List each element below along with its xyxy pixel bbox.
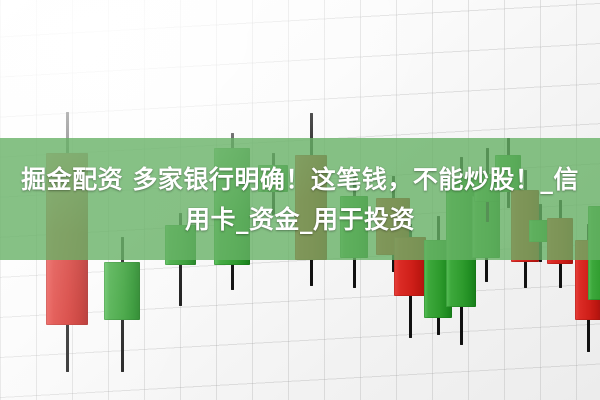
candle-body-down — [394, 237, 426, 296]
candle-body-up — [104, 262, 140, 320]
screenshot-canvas: 掘金配资 多家银行明确！这笔钱，不能炒股！_信 用卡_资金_用于投资 — [0, 0, 600, 400]
headline-line-2: 用卡_资金_用于投资 — [4, 200, 596, 240]
headline-line-1: 掘金配资 多家银行明确！这笔钱，不能炒股！_信 — [4, 160, 596, 200]
headline-text: 掘金配资 多家银行明确！这笔钱，不能炒股！_信 用卡_资金_用于投资 — [0, 160, 600, 240]
